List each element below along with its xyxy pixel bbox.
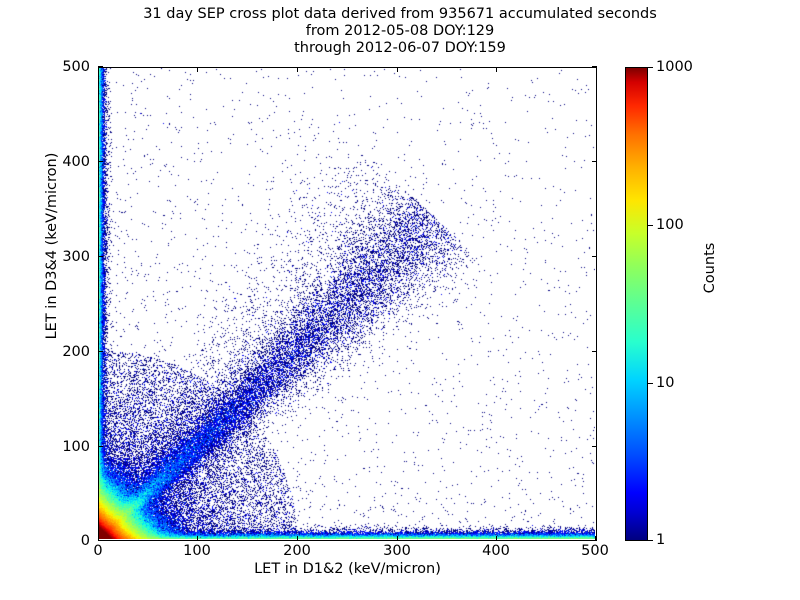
y-tick-400 bbox=[98, 161, 103, 162]
scatter-data-layer bbox=[99, 68, 595, 539]
plot-title: 31 day SEP cross plot data derived from … bbox=[0, 6, 800, 57]
y-ticklabel-300: 300 bbox=[34, 249, 90, 265]
x-ticklabel-300: 300 bbox=[362, 543, 432, 559]
x-tick-100 bbox=[197, 536, 198, 541]
y-axis-label: LET in D3&4 (keV/micron) bbox=[44, 106, 60, 386]
colorbar-gradient bbox=[625, 67, 648, 541]
y-tick-right-100 bbox=[592, 446, 597, 447]
title-line-3: through 2012-06-07 DOY:159 bbox=[0, 40, 800, 57]
x-tick-top-300 bbox=[397, 67, 398, 72]
x-ticklabel-400: 400 bbox=[461, 543, 531, 559]
x-tick-top-400 bbox=[496, 67, 497, 72]
figure-canvas: 31 day SEP cross plot data derived from … bbox=[0, 0, 800, 600]
y-tick-right-400 bbox=[592, 161, 597, 162]
colorbar-tick-100 bbox=[648, 225, 653, 226]
colorbar-label-1: 1 bbox=[656, 532, 665, 548]
colorbar-label-1000: 1000 bbox=[656, 59, 693, 75]
title-line-2: from 2012-05-08 DOY:129 bbox=[0, 23, 800, 40]
y-tick-right-300 bbox=[592, 256, 597, 257]
y-ticklabel-500: 500 bbox=[34, 59, 90, 75]
colorbar-label-10: 10 bbox=[656, 375, 674, 391]
y-tick-100 bbox=[98, 446, 103, 447]
x-tick-0 bbox=[98, 536, 99, 541]
colorbar-tick-10 bbox=[648, 383, 653, 384]
y-ticklabel-100: 100 bbox=[34, 439, 90, 455]
y-ticklabel-200: 200 bbox=[34, 344, 90, 360]
x-tick-200 bbox=[297, 536, 298, 541]
x-ticklabel-100: 100 bbox=[162, 543, 232, 559]
colorbar-tick-1 bbox=[648, 540, 653, 541]
colorbar-label-100: 100 bbox=[656, 217, 684, 233]
x-tick-top-100 bbox=[197, 67, 198, 72]
y-tick-right-500 bbox=[592, 66, 597, 67]
x-ticklabel-500: 500 bbox=[560, 543, 630, 559]
y-ticklabel-400: 400 bbox=[34, 154, 90, 170]
x-tick-300 bbox=[397, 536, 398, 541]
title-line-1: 31 day SEP cross plot data derived from … bbox=[0, 6, 800, 23]
colorbar-title: Counts bbox=[702, 198, 718, 338]
y-tick-300 bbox=[98, 256, 103, 257]
x-ticklabel-0: 0 bbox=[63, 543, 133, 559]
colorbar-tick-1000 bbox=[648, 67, 653, 68]
y-tick-right-200 bbox=[592, 351, 597, 352]
x-tick-top-200 bbox=[297, 67, 298, 72]
x-tick-400 bbox=[496, 536, 497, 541]
y-tick-200 bbox=[98, 351, 103, 352]
y-tick-500 bbox=[98, 66, 103, 67]
x-ticklabel-200: 200 bbox=[262, 543, 332, 559]
x-axis-label: LET in D1&2 (keV/micron) bbox=[98, 561, 597, 577]
plot-area bbox=[98, 67, 597, 541]
x-tick-500 bbox=[595, 536, 596, 541]
